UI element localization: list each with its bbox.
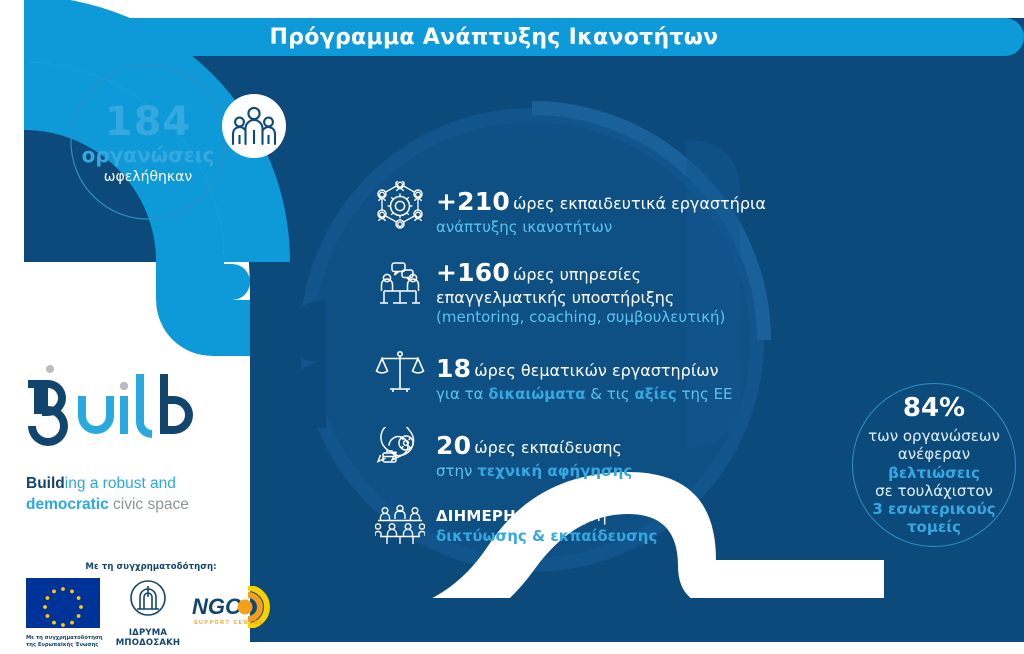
build-wordmark-icon bbox=[20, 360, 220, 460]
stat-line1: ώρες εκπαίδευσης bbox=[474, 438, 622, 457]
cofunded-label: Με τη συγχρηματοδότηση: bbox=[26, 562, 276, 572]
stat-row-thematic-workshops: 18ώρες θεματικών εργαστηρίων για τα δικα… bbox=[372, 345, 792, 404]
stat-value: +160 bbox=[436, 258, 510, 287]
stat-value: +210 bbox=[436, 187, 510, 216]
stat-row-networking-meeting: ΔΙΗΜΕΡΗσυνάντηση δικτύωσης & εκπαίδευσης bbox=[372, 498, 792, 554]
stat-line2: επαγγελματικής υποστήριξης bbox=[436, 288, 725, 308]
stat-sub-a: στην bbox=[436, 462, 477, 480]
stat-value: 18 bbox=[436, 354, 471, 383]
ngo-funder: NGO SUPPORT CENTRE bbox=[190, 578, 276, 632]
stat-sub-bold-a: δικαιώματα bbox=[488, 385, 585, 403]
percent-line3: σε τουλάχιστον bbox=[875, 482, 993, 500]
stat-sub-bold: δικτύωσης & εκπαίδευσης bbox=[436, 527, 657, 545]
stat-sub: (mentoring, coaching, συμβουλευτική) bbox=[436, 308, 725, 326]
stat-sub-a: για τα bbox=[436, 385, 488, 403]
percent-line2-plain: ανέφεραν bbox=[898, 445, 970, 463]
percent-line2-bold: βελτιώσεις bbox=[888, 464, 980, 482]
bodossaki-line1: ΙΔΡΥΜΑ bbox=[109, 628, 187, 638]
bodossaki-line2: ΜΠΟΔΟΣΑΚΗ bbox=[109, 638, 187, 648]
build-logo: Building a robust and democratic civic s… bbox=[20, 360, 250, 516]
ngo-support-centre-icon: NGO SUPPORT CENTRE bbox=[190, 586, 276, 628]
title-bar: Πρόγραμμα Ανάπτυξης Ικανοτήτων bbox=[24, 18, 1024, 56]
eu-flag-icon bbox=[26, 578, 100, 628]
cyan-tail bbox=[156, 264, 250, 300]
bodossaki-funder: ΙΔΡΥΜΑ ΜΠΟΔΟΣΑΚΗ bbox=[109, 578, 187, 648]
eu-funder: Με τη συγχρηματοδότηση της Ευρωπαϊκής Έν… bbox=[26, 578, 106, 649]
stat-row-storytelling: 20ώρες εκπαίδευσης στην τεχνική αφήγησης bbox=[372, 422, 792, 481]
tagline-bold-2: democratic bbox=[26, 496, 109, 513]
people-group-icon bbox=[222, 94, 286, 158]
stat-line1: ώρες υπηρεσίες bbox=[513, 265, 641, 284]
page-title: Πρόγραμμα Ανάπτυξης Ικανοτήτων bbox=[270, 25, 719, 50]
stat-badge-organizations: 184 οργανώσεις ωφελήθηκαν bbox=[72, 76, 224, 210]
percent-line4: 3 εσωτερικούς bbox=[872, 500, 995, 518]
percent-line5: τομείς bbox=[907, 518, 961, 536]
stat-line1: συνάντηση bbox=[519, 506, 607, 525]
badge-number: 184 bbox=[105, 101, 192, 143]
eu-caption-line2: της Ευρωπαϊκής Ένωσης bbox=[26, 642, 106, 649]
stat-sub-c: της ΕΕ bbox=[677, 385, 733, 403]
stat-value: ΔΙΗΜΕΡΗ bbox=[436, 507, 516, 525]
stat-circle-percent: 84% των οργανώσεων ανέφεραν βελτιώσεις σ… bbox=[852, 383, 1016, 547]
speech-bubble-media-icon bbox=[372, 422, 428, 478]
percent-line1: των οργανώσεων bbox=[868, 427, 1000, 445]
stat-sub-bold: τεχνική αφήγησης bbox=[477, 462, 632, 480]
percent-value: 84% bbox=[903, 393, 965, 425]
stat-line1: ώρες θεματικών εργαστηρίων bbox=[474, 361, 718, 380]
conference-meeting-icon bbox=[372, 498, 428, 554]
tagline-bold-1: Build bbox=[26, 475, 65, 492]
stat-row-professional-support: +160ώρες υπηρεσίες επαγγελματικής υποστή… bbox=[372, 255, 792, 327]
stat-row-training-hours: +210ώρες εκπαιδευτικά εργαστήρια ανάπτυξ… bbox=[372, 178, 792, 237]
stat-sub-b: & τις bbox=[586, 385, 635, 403]
ngo-subtitle: SUPPORT CENTRE bbox=[194, 620, 264, 626]
stat-sub-bold-b: αξίες bbox=[634, 385, 676, 403]
ngo-wordmark: NGO bbox=[192, 594, 242, 619]
stat-sub: ανάπτυξης ικανοτήτων bbox=[436, 218, 612, 236]
badge-label-line2: ωφελήθηκαν bbox=[104, 170, 192, 185]
funders-block: Με τη συγχρηματοδότηση: Με τη συγχρηματ bbox=[26, 562, 276, 649]
stat-line1: ώρες εκπαιδευτικά εργαστήρια bbox=[513, 194, 766, 213]
tagline-rest-2: civic space bbox=[109, 496, 189, 513]
eu-caption-line1: Με τη συγχρηματοδότηση bbox=[26, 635, 106, 642]
balance-scales-icon bbox=[372, 345, 428, 401]
people-network-gear-icon bbox=[372, 178, 428, 234]
badge-label-line1: οργανώσεις bbox=[82, 145, 215, 166]
infographic-canvas: Πρόγραμμα Ανάπτυξης Ικανοτήτων 184 οργαν… bbox=[0, 0, 1024, 654]
logo-tagline: Building a robust and democratic civic s… bbox=[26, 474, 250, 516]
tagline-rest-1: ing a robust and bbox=[65, 475, 176, 492]
stats-list: +210ώρες εκπαιδευτικά εργαστήρια ανάπτυξ… bbox=[372, 178, 792, 572]
stat-value: 20 bbox=[436, 431, 471, 460]
mentoring-table-icon bbox=[372, 255, 428, 311]
bodossaki-icon bbox=[127, 578, 169, 622]
